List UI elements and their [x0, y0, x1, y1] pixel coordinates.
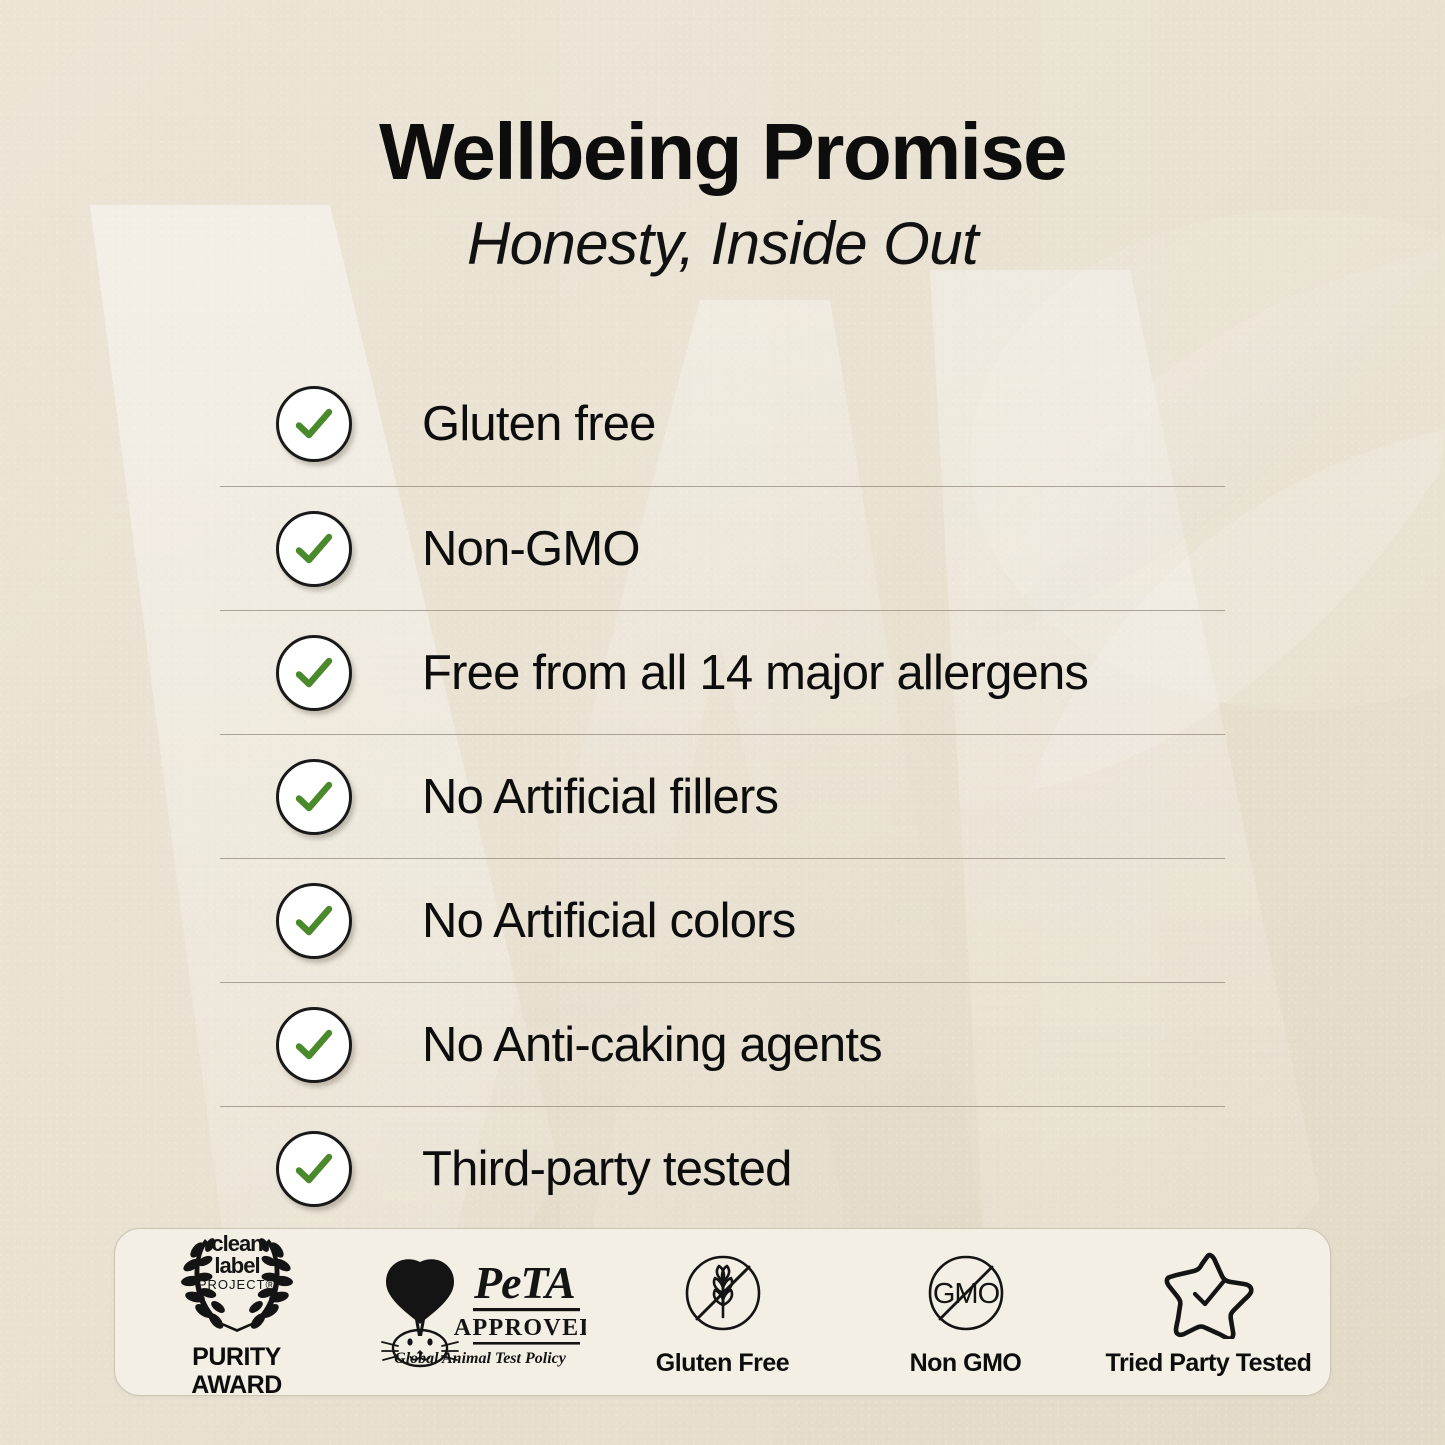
svg-text:APPROVED: APPROVED [453, 1315, 585, 1341]
promise-label: No Artificial colors [422, 893, 795, 949]
green-check-icon [276, 759, 352, 835]
crossed-wheat-icon-wrapper [677, 1247, 769, 1339]
cert-label-non-gmo: Non GMO [910, 1349, 1022, 1377]
promise-row-0: Gluten free [220, 362, 1225, 486]
cert-badge-clean-label-project-purity-award: clean label PROJECT® PURITY AWARD [115, 1229, 358, 1395]
peta-bunny-heart-icon-wrapper: PeTA APPROVED Global Animal Test Policy [374, 1256, 586, 1368]
green-check-icon [276, 635, 352, 711]
promise-card: Wellbeing Promise Honesty, Inside Out Gl… [0, 0, 1445, 1445]
promise-label: Non-GMO [422, 521, 640, 577]
svg-text:PeTA: PeTA [473, 1257, 575, 1308]
page-title: Wellbeing Promise [0, 112, 1445, 192]
green-check-icon [276, 511, 352, 587]
cert-badge-gluten-free: Gluten Free [601, 1229, 844, 1395]
crossed-gmo-icon-wrapper: GMO [920, 1247, 1012, 1339]
star-check-icon-wrapper [1162, 1247, 1256, 1339]
header: Wellbeing Promise Honesty, Inside Out [0, 112, 1445, 274]
cert-badge-non-gmo: GMO Non GMO [844, 1229, 1087, 1395]
cert-badge-peta-approved: PeTA APPROVED Global Animal Test Policy [358, 1229, 601, 1395]
certification-bar: clean label PROJECT® PURITY AWARD [114, 1228, 1331, 1396]
star-check-icon [1162, 1247, 1256, 1339]
green-check-icon [276, 1007, 352, 1083]
promise-list: Gluten free Non-GMO Free from all 14 maj… [220, 362, 1225, 1230]
green-check-icon [276, 1131, 352, 1207]
laurel-wreath-icon-wrapper: clean label PROJECT® [171, 1228, 303, 1333]
green-check-icon [276, 386, 352, 462]
crossed-wheat-icon [677, 1247, 769, 1339]
promise-row-2: Free from all 14 major allergens [220, 610, 1225, 734]
peta-bunny-heart-icon: PeTA APPROVED Global Animal Test Policy [374, 1256, 586, 1368]
cert-label-third-party-tested: Tried Party Tested [1106, 1349, 1312, 1377]
promise-row-3: No Artificial fillers [220, 734, 1225, 858]
laurel-wreath-icon: clean label PROJECT® [171, 1228, 303, 1333]
promise-row-4: No Artificial colors [220, 858, 1225, 982]
crossed-gmo-icon: GMO [920, 1247, 1012, 1339]
green-check-icon [276, 883, 352, 959]
promise-row-6: Third-party tested [220, 1106, 1225, 1230]
page-subtitle: Honesty, Inside Out [0, 214, 1445, 274]
svg-text:label: label [214, 1253, 259, 1278]
promise-label: No Artificial fillers [422, 769, 778, 825]
cert-badge-third-party-tested: Tried Party Tested [1087, 1229, 1330, 1395]
svg-text:Global Animal Test Policy: Global Animal Test Policy [394, 1350, 567, 1367]
promise-label: Gluten free [422, 396, 656, 452]
promise-label: No Anti-caking agents [422, 1017, 882, 1073]
promise-label: Third-party tested [422, 1141, 792, 1197]
cert-label-gluten-free: Gluten Free [656, 1349, 789, 1377]
cert-label-clean-label-project-purity-award: PURITY AWARD [191, 1343, 282, 1396]
promise-label: Free from all 14 major allergens [422, 645, 1088, 701]
promise-row-5: No Anti-caking agents [220, 982, 1225, 1106]
promise-row-1: Non-GMO [220, 486, 1225, 610]
svg-text:PROJECT®: PROJECT® [197, 1277, 275, 1292]
